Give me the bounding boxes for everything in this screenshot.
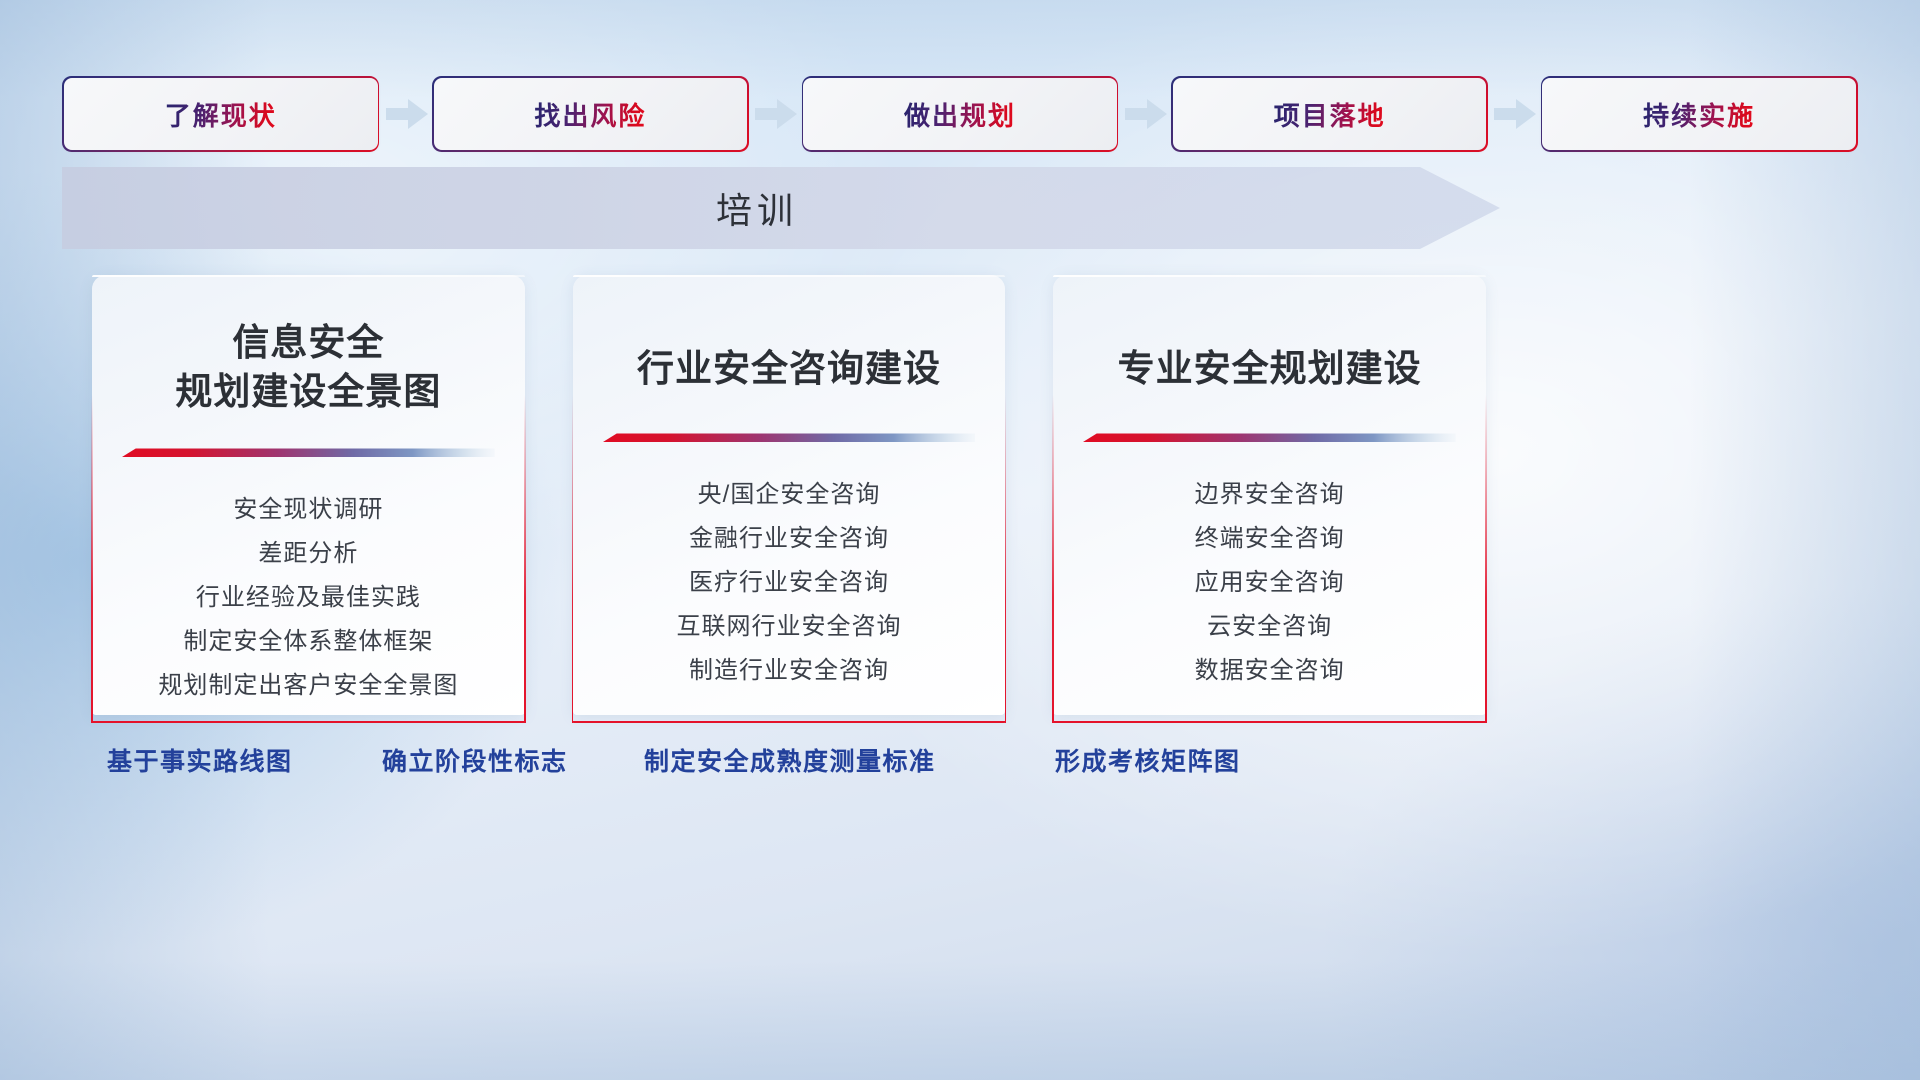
card-item-list: 安全现状调研 差距分析 行业经验及最佳实践 制定安全体系整体框架 规划制定出客户…	[122, 488, 495, 708]
card-title: 专业安全规划建设	[1118, 345, 1422, 394]
arrow-right-icon	[1486, 94, 1542, 134]
card-divider	[603, 432, 976, 443]
list-item: 央/国企安全咨询	[603, 473, 976, 517]
bottom-label: 确立阶段性标志	[382, 742, 568, 778]
card-item-list: 央/国企安全咨询 金融行业安全咨询 医疗行业安全咨询 互联网行业安全咨询 制造行…	[603, 473, 976, 693]
card-edge-left	[91, 395, 93, 723]
infographic-slide: 了解现状 找出风险 做出规划 项目落地	[0, 0, 1920, 1080]
arrow-right-icon	[378, 94, 434, 134]
training-label: 培训	[62, 167, 1452, 249]
training-banner: 培训	[62, 167, 1500, 249]
list-item: 医疗行业安全咨询	[603, 561, 976, 605]
process-step-1[interactable]: 了解现状	[64, 78, 378, 150]
list-item: 云安全咨询	[1083, 605, 1456, 649]
card-bottom-line	[572, 721, 1007, 723]
list-item: 制定安全体系整体框架	[122, 620, 495, 664]
card-item-list: 边界安全咨询 终端安全咨询 应用安全咨询 云安全咨询 数据安全咨询	[1083, 473, 1456, 693]
card-title: 行业安全咨询建设	[637, 345, 941, 394]
list-item: 制造行业安全咨询	[603, 649, 976, 693]
list-item: 规划制定出客户安全全景图	[122, 664, 495, 708]
service-card[interactable]: 行业安全咨询建设	[573, 275, 1006, 715]
card-bottom-line	[1052, 721, 1487, 723]
card-edge-left	[1052, 395, 1054, 723]
list-item: 金融行业安全咨询	[603, 517, 976, 561]
cards-row: 信息安全 规划建设全景图	[92, 275, 1486, 715]
process-step-label: 项目落地	[1274, 96, 1386, 133]
bottom-labels-row: 基于事实路线图 确立阶段性标志 制定安全成熟度测量标准 形成考核矩阵图	[92, 742, 1492, 786]
process-steps-row: 了解现状 找出风险 做出规划 项目落地	[64, 78, 1856, 150]
bottom-label: 形成考核矩阵图	[1055, 742, 1241, 778]
list-item: 终端安全咨询	[1083, 517, 1456, 561]
service-card[interactable]: 专业安全规划建设	[1053, 275, 1486, 715]
list-item: 应用安全咨询	[1083, 561, 1456, 605]
list-item: 安全现状调研	[122, 488, 495, 532]
process-step-label: 找出风险	[534, 96, 646, 133]
card-divider	[122, 447, 495, 458]
card-edge-right	[1005, 395, 1007, 723]
card-divider	[1083, 432, 1456, 443]
list-item: 差距分析	[122, 532, 495, 576]
card-title: 信息安全 规划建设全景图	[175, 319, 441, 417]
arrow-right-icon	[747, 94, 803, 134]
process-step-label: 做出规划	[904, 96, 1016, 133]
list-item: 行业经验及最佳实践	[122, 576, 495, 620]
process-step-5[interactable]: 持续实施	[1542, 78, 1856, 150]
bottom-label: 基于事实路线图	[107, 742, 293, 778]
process-step-4[interactable]: 项目落地	[1173, 78, 1487, 150]
card-edge-right	[524, 395, 526, 723]
card-bottom-line	[91, 721, 526, 723]
process-step-label: 了解现状	[165, 96, 277, 133]
card-edge-right	[1485, 395, 1487, 723]
list-item: 边界安全咨询	[1083, 473, 1456, 517]
list-item: 数据安全咨询	[1083, 649, 1456, 693]
card-edge-left	[572, 395, 574, 723]
process-step-3[interactable]: 做出规划	[803, 78, 1117, 150]
process-step-label: 持续实施	[1643, 96, 1755, 133]
list-item: 互联网行业安全咨询	[603, 605, 976, 649]
bottom-label: 制定安全成熟度测量标准	[644, 742, 936, 778]
arrow-right-icon	[1117, 94, 1173, 134]
service-card[interactable]: 信息安全 规划建设全景图	[92, 275, 525, 715]
process-step-2[interactable]: 找出风险	[434, 78, 748, 150]
